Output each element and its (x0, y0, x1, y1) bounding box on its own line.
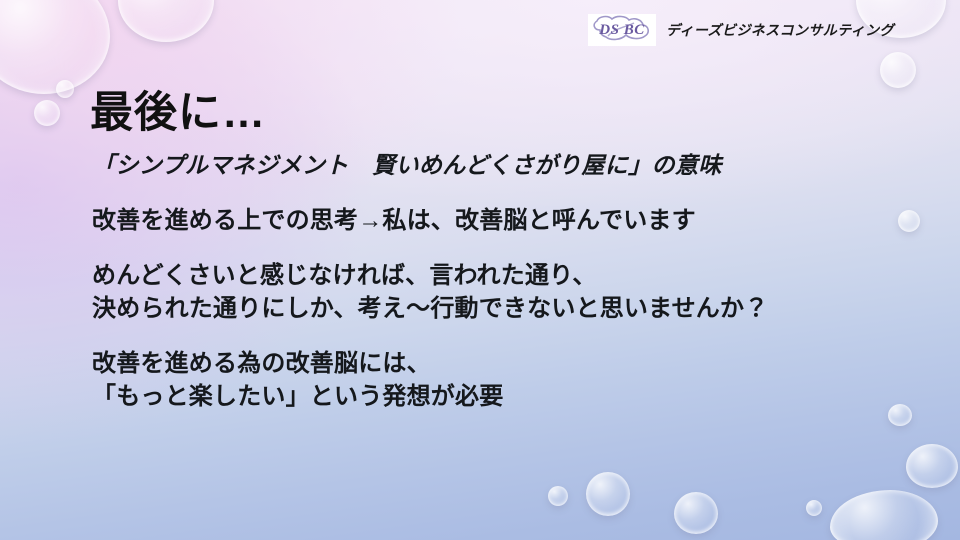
presentation-slide: DS BC ディーズビジネスコンサルティング 最後に… 「シンプルマネジメント … (0, 0, 960, 540)
bubble-bottom-right-dot-icon (806, 500, 822, 516)
bubble-bottom-mid-right-icon (674, 492, 718, 534)
bubble-bottom-right-md-icon (906, 444, 958, 488)
bubble-top-left-tiny-a-icon (56, 80, 74, 98)
bubble-top-right-small-icon (880, 52, 916, 88)
text-line: 決められた通りにしか、考え～行動できないと思いませんか？ (92, 292, 912, 325)
bubble-bottom-mid-tiny-icon (548, 486, 568, 506)
paragraph-meaning-of-simple-management: 「シンプルマネジメント 賢いめんどくさがり屋に」の意味 (92, 150, 912, 182)
bubble-bottom-mid-icon (586, 472, 630, 516)
company-name-label: ディーズビジネスコンサルティング (666, 20, 894, 40)
text-line: 「もっと楽したい」という発想が必要 (92, 380, 912, 413)
text-line: めんどくさいと感じなければ、言われた通り、 (92, 259, 912, 292)
slide-body: 「シンプルマネジメント 賢いめんどくさがり屋に」の意味改善を進める上での思考→私… (92, 150, 912, 413)
page-title: 最後に… (90, 78, 266, 140)
dsbc-logo-text: DS BC (599, 22, 644, 39)
bubble-top-left-tiny-b-icon (34, 100, 60, 126)
text-line: 「シンプルマネジメント 賢いめんどくさがり屋に」の意味 (92, 150, 912, 182)
company-header: DS BC ディーズビジネスコンサルティング (588, 14, 894, 46)
paragraph-kaizen-brain: 改善を進める上での思考→私は、改善脳と呼んでいます (92, 204, 912, 237)
bubble-top-left-upper-icon (118, 0, 214, 42)
text-line: 改善を進める為の改善脳には、 (92, 347, 912, 380)
dsbc-logo: DS BC (588, 14, 656, 46)
paragraph-mendokusai-question: めんどくさいと感じなければ、言われた通り、決められた通りにしか、考え～行動できな… (92, 259, 912, 325)
text-line: 改善を進める上での思考→私は、改善脳と呼んでいます (92, 204, 912, 237)
paragraph-kaizen-brain-needs: 改善を進める為の改善脳には、「もっと楽したい」という発想が必要 (92, 347, 912, 413)
bubble-bottom-right-big-icon (830, 490, 938, 540)
